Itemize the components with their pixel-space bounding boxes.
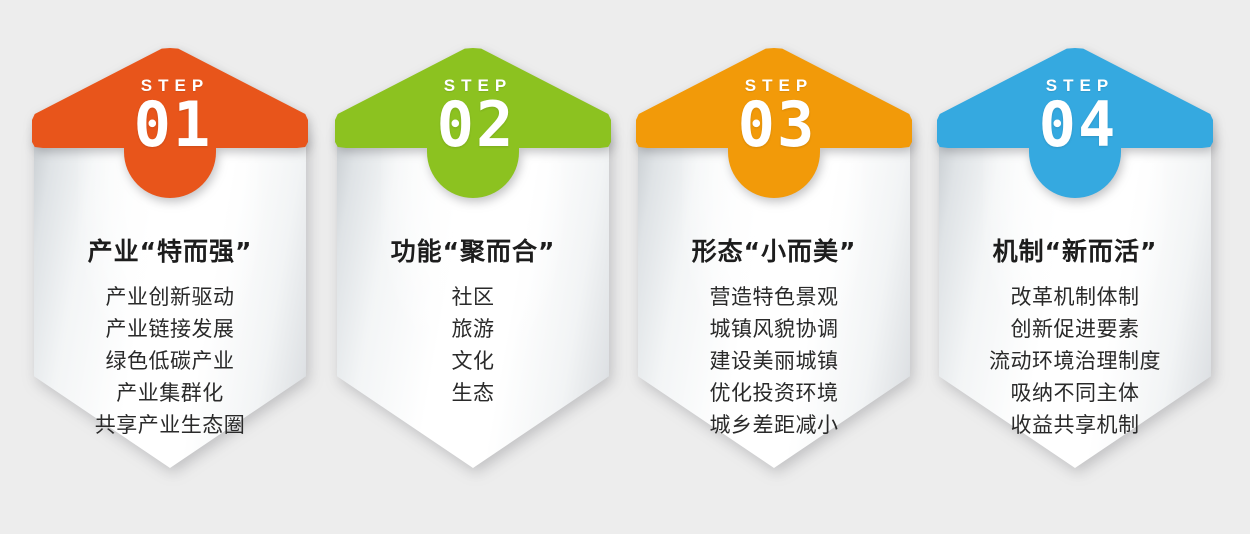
chevron-head: [335, 48, 611, 148]
chevron-up-icon: [636, 48, 912, 168]
step-card-01[interactable]: STEP 01 产业“特而强” 产业创新驱动 产业链接发展 绿色低碳产业 产业集…: [34, 48, 306, 468]
chevron-up-icon: [32, 48, 308, 168]
step-card-02[interactable]: STEP 02 功能“聚而合” 社区 旅游 文化 生态: [337, 48, 609, 468]
step-card-04[interactable]: STEP 04 机制“新而活” 改革机制体制 创新促进要素 流动环境治理制度 吸…: [939, 48, 1211, 468]
chevron-head: [937, 48, 1213, 148]
step-card-03[interactable]: STEP 03 形态“小而美” 营造特色景观 城镇风貌协调 建设美丽城镇 优化投…: [638, 48, 910, 468]
chevron-head: [636, 48, 912, 148]
chevron-head: [32, 48, 308, 148]
infographic-board: STEP 01 产业“特而强” 产业创新驱动 产业链接发展 绿色低碳产业 产业集…: [0, 0, 1250, 534]
chevron-up-icon: [937, 48, 1213, 168]
chevron-up-icon: [335, 48, 611, 168]
